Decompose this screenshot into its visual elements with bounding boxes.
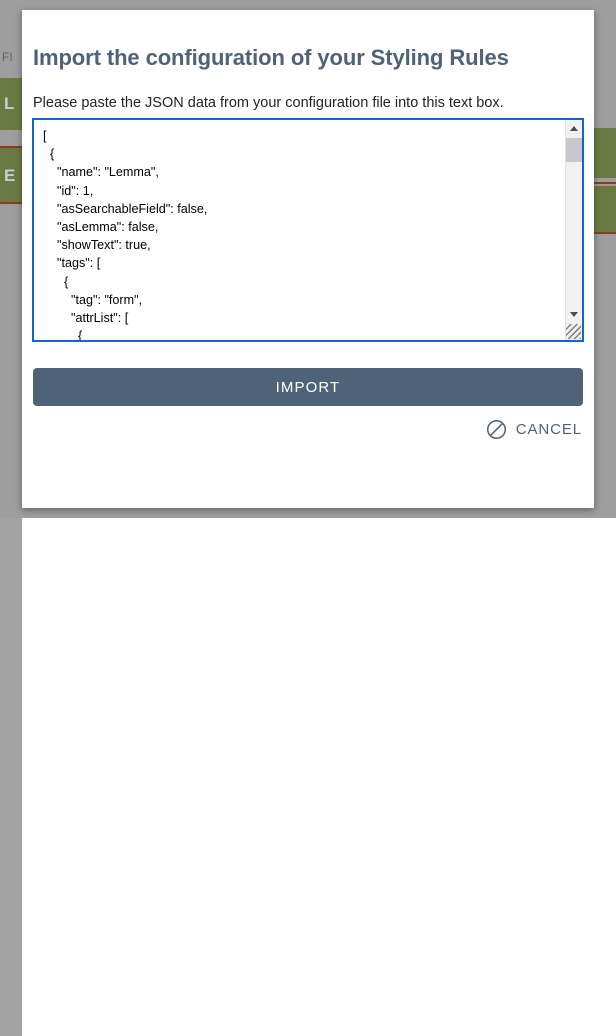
scrollbar-thumb[interactable]	[566, 138, 582, 162]
background-rule-left-1	[0, 146, 22, 148]
background-rule-left-2	[0, 202, 22, 204]
background-text-fragment-left: FI	[2, 50, 13, 64]
dialog-subtitle: Please paste the JSON data from your con…	[33, 95, 504, 111]
dialog-title: Import the configuration of your Styling…	[33, 45, 509, 71]
chevron-up-icon	[570, 126, 578, 131]
page-root: L E FI Import the configuration of your …	[0, 0, 616, 518]
textarea-scrollbar[interactable]	[565, 120, 582, 340]
background-top-band	[0, 0, 616, 10]
resize-grip-icon[interactable]	[566, 324, 581, 339]
background-strip-left-1: L	[0, 78, 22, 130]
background-strip-left-1-label: L	[4, 94, 15, 114]
import-button[interactable]: IMPORT	[33, 368, 583, 406]
cancel-label: CANCEL	[516, 421, 582, 438]
background-bottom-band	[0, 508, 616, 518]
background-rule-right-2	[594, 232, 616, 234]
background-strip-left-2-label: E	[4, 166, 16, 186]
background-strip-right-2	[594, 186, 616, 234]
scrollbar-up-button[interactable]	[566, 120, 582, 137]
background-rule-right-1	[594, 182, 616, 184]
scrollbar-down-button[interactable]	[566, 306, 582, 323]
background-strip-right-1	[594, 128, 616, 178]
chevron-down-icon	[570, 312, 578, 317]
prohibition-circle-slash-icon	[486, 419, 507, 440]
cancel-button[interactable]: CANCEL	[486, 419, 582, 440]
background-strip-left-2: E	[0, 148, 22, 204]
import-configuration-dialog: Import the configuration of your Styling…	[22, 10, 594, 508]
json-textarea[interactable]: [ { "name": "Lemma", "id": 1, "asSearcha…	[34, 120, 565, 340]
json-textarea-container[interactable]: [ { "name": "Lemma", "id": 1, "asSearcha…	[32, 118, 584, 342]
background-right-band	[0, 518, 22, 1036]
